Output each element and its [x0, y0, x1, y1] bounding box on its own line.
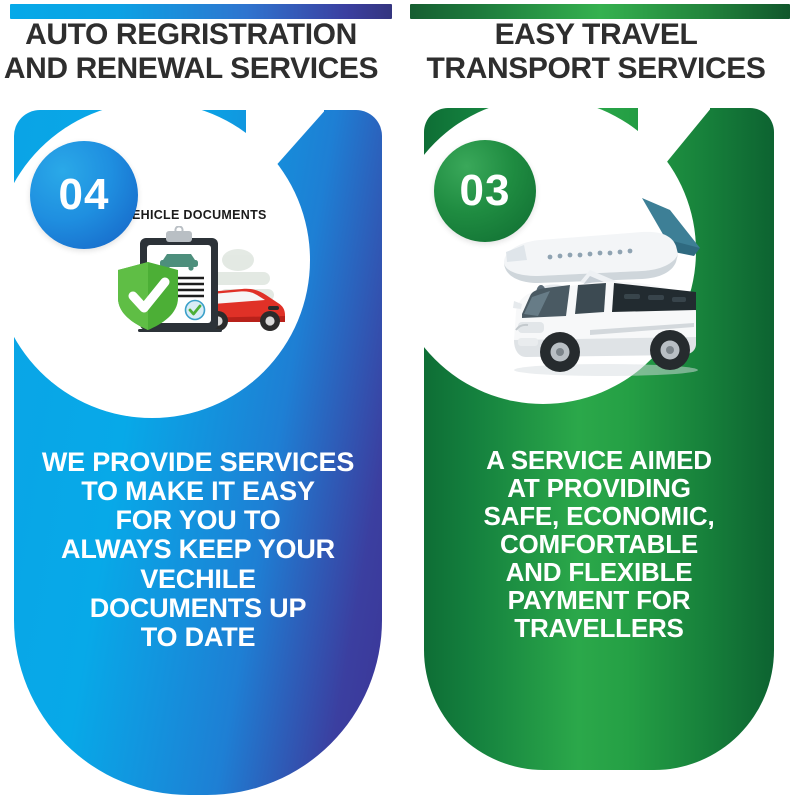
panel-heading-auto-registration: AUTO REGRISTRATION AND RENEWAL SERVICES — [0, 18, 396, 85]
body-line: COMFORTABLE — [424, 530, 774, 558]
notch-wedge — [638, 106, 710, 162]
body-line: TO MAKE IT EASY — [14, 477, 382, 506]
panel-heading-easy-travel: EASY TRAVEL TRANSPORT SERVICES — [400, 18, 792, 85]
step-number-badge-04: 04 — [30, 141, 138, 249]
body-line: A SERVICE AIMED — [424, 446, 774, 474]
body-line: PAYMENT FOR — [424, 586, 774, 614]
accent-bar-blue — [10, 4, 392, 19]
body-line: VECHILE — [14, 565, 382, 594]
body-line: AT PROVIDING — [424, 474, 774, 502]
body-line: TRAVELLERS — [424, 614, 774, 642]
heading-line-1: AUTO REGRISTRATION — [0, 18, 396, 52]
white-van-icon — [513, 282, 698, 376]
step-number-text: 03 — [460, 166, 511, 216]
panel-body-easy-travel: A SERVICE AIMED AT PROVIDING SAFE, ECONO… — [424, 446, 774, 643]
notch-wedge — [246, 108, 324, 166]
heading-line-2: AND RENEWAL SERVICES — [0, 52, 396, 86]
heading-line-2: TRANSPORT SERVICES — [400, 52, 792, 86]
body-line: TO DATE — [14, 623, 382, 652]
body-line: DOCUMENTS UP — [14, 594, 382, 623]
step-number-badge-03: 03 — [434, 140, 536, 242]
infographic-canvas: AUTO REGRISTRATION AND RENEWAL SERVICES … — [0, 0, 800, 800]
accent-bar-green — [410, 4, 790, 19]
body-line: ALWAYS KEEP YOUR — [14, 535, 382, 564]
panel-body-auto-registration: WE PROVIDE SERVICES TO MAKE IT EASY FOR … — [14, 448, 382, 652]
body-line: WE PROVIDE SERVICES — [14, 448, 382, 477]
illustration-vehicle-documents: VEHICLE DOCUMENTS — [100, 208, 290, 336]
heading-line-1: EASY TRAVEL — [400, 18, 792, 52]
body-line: SAFE, ECONOMIC, — [424, 502, 774, 530]
step-number-text: 04 — [59, 170, 110, 220]
vehicle-documents-graphic — [100, 226, 290, 338]
body-line: FOR YOU TO — [14, 506, 382, 535]
body-line: AND FLEXIBLE — [424, 558, 774, 586]
